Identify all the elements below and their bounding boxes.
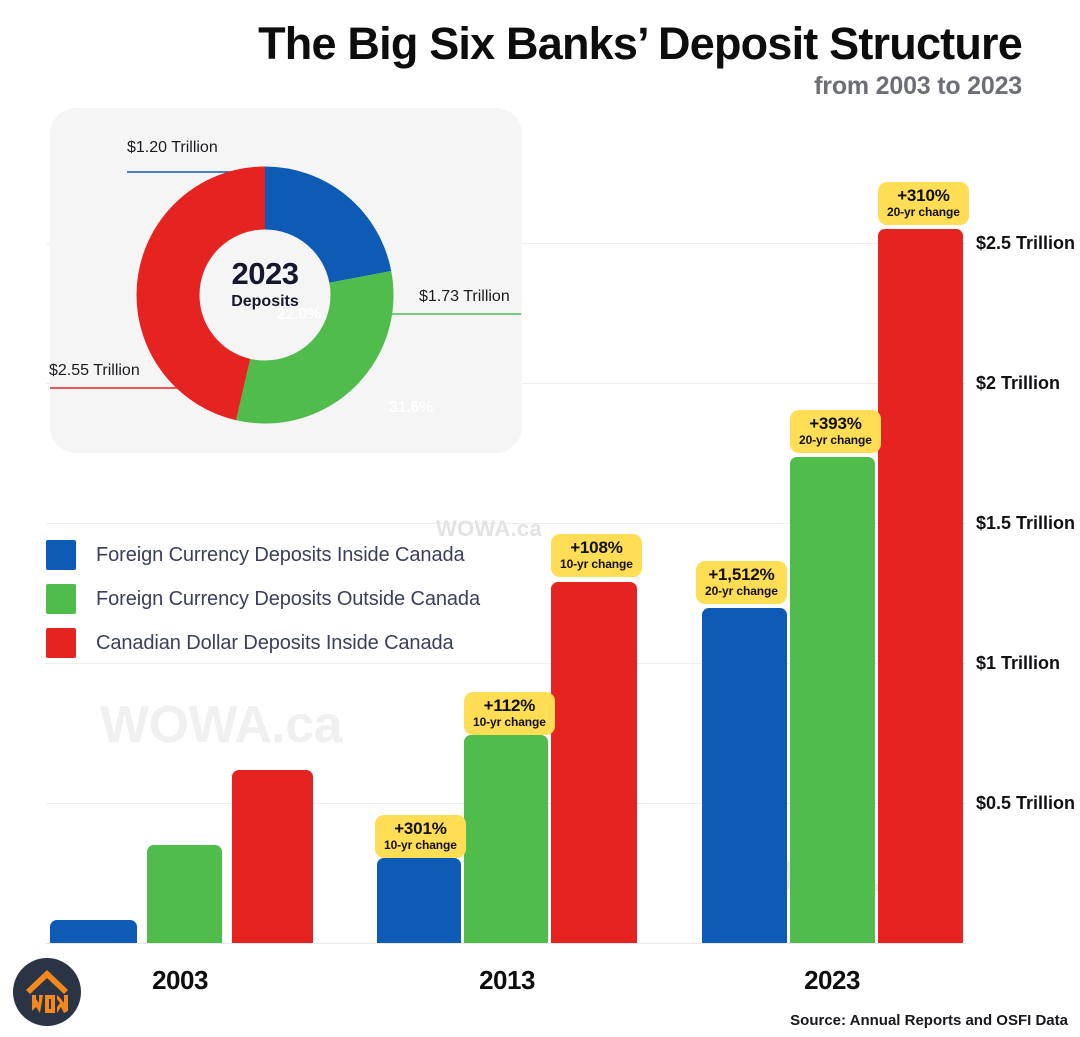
badge-2013-foreign-outside: +112% 10-yr change xyxy=(464,692,555,735)
donut-chart-card: $1.20 Trillion $1.73 Trillion $2.55 Tril… xyxy=(50,108,522,453)
y-tick-2_5t: $2.5 Trillion xyxy=(976,233,1075,254)
infographic-page: The Big Six Banks’ Deposit Structure fro… xyxy=(0,0,1080,1037)
donut-chart: 2023 Deposits xyxy=(130,160,400,430)
callout-label-green: $1.73 Trillion xyxy=(419,288,510,306)
badge-2013-foreign-inside: +301% 10-yr change xyxy=(375,815,466,858)
bar-2003-cad-inside[interactable] xyxy=(232,770,313,943)
legend-swatch-blue xyxy=(46,540,76,570)
donut-pct-red: 46.4% xyxy=(225,462,269,480)
bar-2023-foreign-outside[interactable] xyxy=(790,457,875,943)
legend-label: Foreign Currency Deposits Outside Canada xyxy=(96,588,480,611)
badge-sub: 20-yr change xyxy=(887,205,960,220)
donut-center-label: Deposits xyxy=(130,293,400,311)
x-label-2003: 2003 xyxy=(90,965,270,996)
callout-label-red: $2.55 Trillion xyxy=(49,362,140,380)
legend-label: Canadian Dollar Deposits Inside Canada xyxy=(96,632,454,655)
donut-center-year: 2023 xyxy=(130,256,400,292)
badge-sub: 10-yr change xyxy=(473,715,546,730)
donut-pct-blue: 22.0% xyxy=(277,306,321,324)
badge-2013-cad-inside: +108% 10-yr change xyxy=(551,534,642,577)
badge-sub: 20-yr change xyxy=(799,433,872,448)
watermark-primary: WOWA.ca xyxy=(100,695,342,755)
legend-item-foreign-inside[interactable]: Foreign Currency Deposits Inside Canada xyxy=(46,533,480,577)
legend-swatch-green xyxy=(46,584,76,614)
legend-label: Foreign Currency Deposits Inside Canada xyxy=(96,544,465,567)
x-label-2013: 2013 xyxy=(417,965,597,996)
badge-pct: +310% xyxy=(887,186,960,205)
chart-legend: Foreign Currency Deposits Inside Canada … xyxy=(46,533,480,665)
badge-pct: +112% xyxy=(473,696,546,715)
badge-pct: +1,512% xyxy=(705,565,778,584)
badge-pct: +393% xyxy=(799,414,872,433)
x-label-2023: 2023 xyxy=(742,965,922,996)
bar-2003-foreign-outside[interactable] xyxy=(147,845,222,943)
callout-label-blue: $1.20 Trillion xyxy=(127,139,218,157)
badge-2023-cad-inside: +310% 20-yr change xyxy=(878,182,969,225)
badge-pct: +301% xyxy=(384,819,457,838)
wowa-logo-icon[interactable] xyxy=(12,957,82,1027)
legend-item-cad-inside[interactable]: Canadian Dollar Deposits Inside Canada xyxy=(46,621,480,665)
bar-2013-foreign-inside[interactable] xyxy=(377,858,461,943)
badge-sub: 10-yr change xyxy=(560,557,633,572)
y-tick-1t: $1 Trillion xyxy=(976,653,1060,674)
bar-2023-foreign-inside[interactable] xyxy=(702,608,787,943)
bar-2023-cad-inside[interactable] xyxy=(878,229,963,943)
badge-pct: +108% xyxy=(560,538,633,557)
badge-2023-foreign-inside: +1,512% 20-yr change xyxy=(696,561,787,604)
donut-pct-green: 31.6% xyxy=(389,399,433,417)
bar-2013-foreign-outside[interactable] xyxy=(464,735,548,943)
y-tick-2t: $2 Trillion xyxy=(976,373,1060,394)
bar-2013-cad-inside[interactable] xyxy=(551,582,637,943)
axis-baseline xyxy=(46,943,966,944)
bar-2003-foreign-inside[interactable] xyxy=(50,920,137,943)
y-tick-0_5t: $0.5 Trillion xyxy=(976,793,1075,814)
legend-swatch-red xyxy=(46,628,76,658)
y-tick-1_5t: $1.5 Trillion xyxy=(976,513,1075,534)
source-note: Source: Annual Reports and OSFI Data xyxy=(790,1012,1068,1029)
badge-sub: 10-yr change xyxy=(384,838,457,853)
badge-2023-foreign-outside: +393% 20-yr change xyxy=(790,410,881,453)
badge-sub: 20-yr change xyxy=(705,584,778,599)
legend-item-foreign-outside[interactable]: Foreign Currency Deposits Outside Canada xyxy=(46,577,480,621)
